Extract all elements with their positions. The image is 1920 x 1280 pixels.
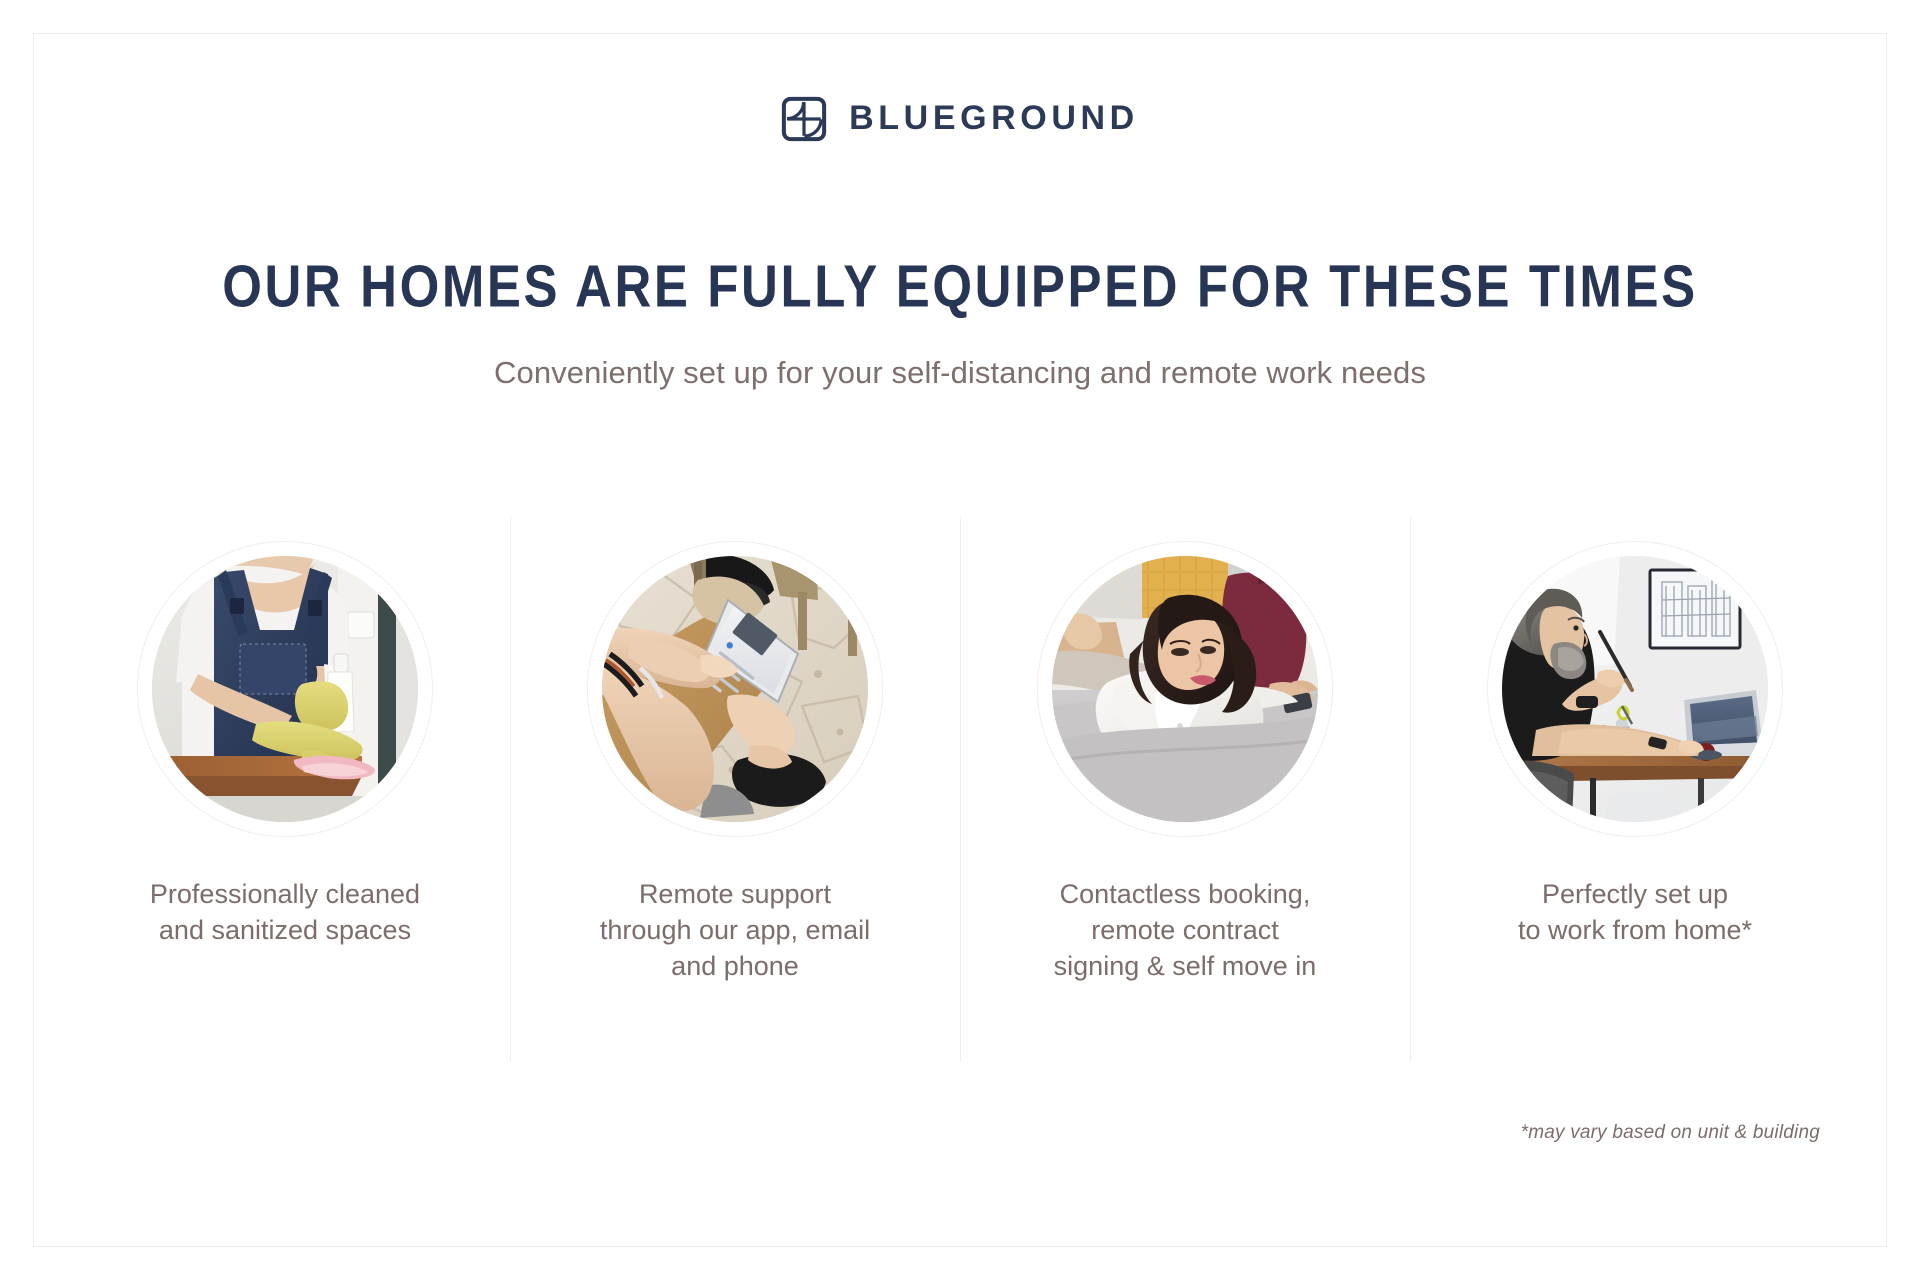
- feature-caption: Professionally cleaned and sanitized spa…: [120, 877, 450, 949]
- feature-card-cleaning: Professionally cleaned and sanitized spa…: [60, 517, 510, 1062]
- feature-caption: Perfectly set up to work from home*: [1470, 877, 1800, 949]
- woman-with-tablet-on-bed-photo: [1052, 556, 1318, 822]
- hands-using-phone-app-photo: [602, 556, 868, 822]
- cleaner-wiping-counter-photo: [152, 556, 418, 822]
- page-title: OUR HOMES ARE FULLY EQUIPPED FOR THESE T…: [0, 252, 1920, 320]
- footnote-disclaimer: *may vary based on unit & building: [1521, 1122, 1820, 1144]
- feature-caption: Remote support through our app, email an…: [570, 877, 900, 985]
- feature-card-contactless-booking: Contactless booking, remote contract sig…: [960, 517, 1410, 1062]
- poster-canvas: BLUEGROUND OUR HOMES ARE FULLY EQUIPPED …: [0, 0, 1920, 1280]
- photo-ring: [1037, 541, 1333, 837]
- page-subtitle: Conveniently set up for your self-distan…: [0, 355, 1920, 391]
- feature-card-work-from-home: Perfectly set up to work from home*: [1410, 517, 1860, 1062]
- photo-ring: [587, 541, 883, 837]
- feature-caption: Contactless booking, remote contract sig…: [1020, 877, 1350, 985]
- brand-header: BLUEGROUND: [0, 96, 1920, 142]
- man-working-at-desk-photo: [1502, 556, 1768, 822]
- photo-ring: [1487, 541, 1783, 837]
- blueground-square-logo-icon: [781, 96, 827, 142]
- brand-wordmark: BLUEGROUND: [849, 101, 1139, 137]
- feature-card-remote-support: Remote support through our app, email an…: [510, 517, 960, 1062]
- photo-ring: [137, 541, 433, 837]
- feature-grid: Professionally cleaned and sanitized spa…: [60, 517, 1860, 1062]
